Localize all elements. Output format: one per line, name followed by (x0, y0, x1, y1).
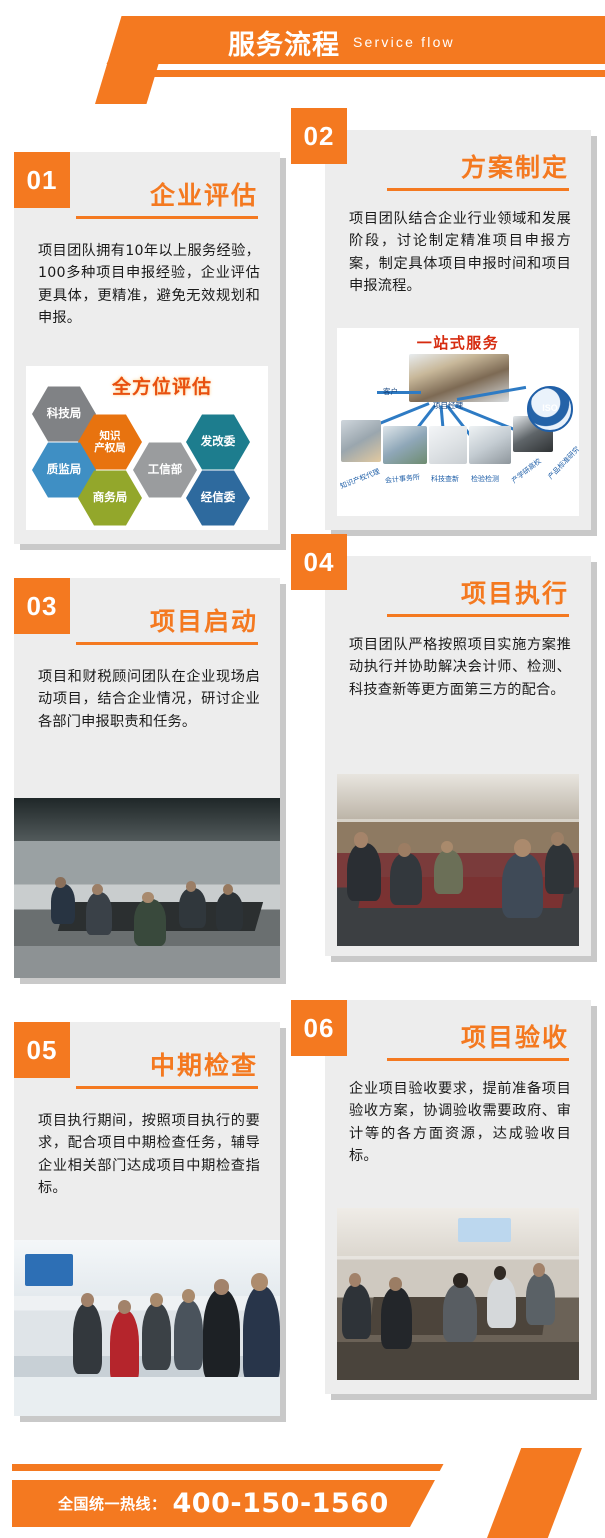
card-title-06: 项目验收 (461, 1018, 569, 1054)
card-description-01: 项目团队拥有10年以上服务经验，100多种项目申报经验，企业评估更具体，更精准，… (38, 240, 260, 330)
service-thumb-1 (341, 420, 381, 462)
footer-hotline-group: 全国统一热线： 400-150-1560 (58, 1480, 389, 1527)
card-title-01: 企业评估 (150, 176, 258, 212)
card-title-rule-02 (387, 188, 569, 191)
photo-workshop (337, 774, 579, 946)
step-card-02[interactable]: 方案制定 项目团队结合企业行业领域和发展阶段，讨论制定精准项目申报方案，制定具体… (325, 130, 591, 530)
hotline-label: 全国统一热线： (58, 1493, 167, 1514)
service-label-1: 知识产权代理 (339, 466, 382, 491)
card-description-06: 企业项目验收要求，提前准备项目验收方案，协调验收需要政府、审计等的各方面资源，达… (349, 1078, 571, 1168)
step-card-04[interactable]: 项目执行 项目团队严格按照项目实施方案推动执行并协助解决会计师、检测、科技查新等… (325, 556, 591, 956)
one-stop-service-diagram: 一站式服务 客户 项目经理 ISO 知识产权代理 会计事务所 科技查新 检验检测… (337, 328, 579, 516)
iso-seal-icon: ISO (527, 386, 573, 432)
card-title-rule-01 (76, 216, 258, 219)
photo-site-visit (14, 1240, 280, 1416)
photo-acceptance-meeting (337, 1208, 579, 1380)
card-title-02: 方案制定 (461, 148, 569, 184)
service-diagram-title: 一站式服务 (337, 332, 579, 353)
page-title: 服务流程 (228, 23, 340, 62)
header-title-group: 服务流程 Service flow (228, 22, 455, 62)
service-thumb-3 (429, 426, 467, 464)
step-card-06[interactable]: 项目验收 企业项目验收要求，提前准备项目验收方案，协调验收需要政府、审计等的各方… (325, 1000, 591, 1394)
step-badge-06: 06 (291, 1000, 347, 1056)
card-title-03: 项目启动 (150, 602, 258, 638)
page-subtitle: Service flow (353, 34, 455, 50)
card-title-rule-05 (76, 1086, 258, 1089)
service-thumb-2 (383, 426, 427, 464)
step-badge-05: 05 (14, 1022, 70, 1078)
service-label-2: 会计事务所 (385, 472, 421, 486)
hex-node-fagaiwei: 发改委 (186, 414, 250, 470)
page-header: 服务流程 Service flow (0, 0, 605, 100)
page-footer: 全国统一热线： 400-150-1560 (0, 1420, 605, 1538)
service-node-manager: 项目经理 (433, 400, 463, 411)
hex-diagram-title: 全方位评估 (112, 372, 212, 399)
hotline-number[interactable]: 400-150-1560 (173, 1488, 389, 1519)
step-badge-03: 03 (14, 578, 70, 634)
card-description-05: 项目执行期间，按照项目执行的要求，配合项目中期检查任务，辅导企业相关部门达成项目… (38, 1110, 260, 1200)
service-label-4: 检验检测 (471, 474, 499, 484)
service-center-photo (409, 354, 509, 402)
header-underline (172, 70, 605, 77)
service-thumb-4 (469, 426, 511, 464)
card-description-02: 项目团队结合企业行业领域和发展阶段，讨论制定精准项目申报方案，制定具体项目申报时… (349, 208, 571, 298)
hex-assessment-diagram: 全方位评估 科技局 知识 产权局 发改委 质监局 工信部 经信委 商务局 (26, 366, 268, 530)
card-description-03: 项目和财税顾问团队在企业现场启动项目，结合企业情况，研讨企业各部门申报职责和任务… (38, 666, 260, 733)
step-badge-04: 04 (291, 534, 347, 590)
service-label-3: 科技查新 (431, 474, 459, 484)
step-card-03[interactable]: 项目启动 项目和财税顾问团队在企业现场启动项目，结合企业情况，研讨企业各部门申报… (14, 578, 280, 978)
step-badge-01: 01 (14, 152, 70, 208)
hex-node-gongxinbu: 工信部 (133, 442, 197, 498)
card-title-rule-06 (387, 1058, 569, 1061)
card-title-rule-04 (387, 614, 569, 617)
card-title-rule-03 (76, 642, 258, 645)
hex-node-jingxinwei: 经信委 (186, 470, 250, 526)
card-description-04: 项目团队严格按照项目实施方案推动执行并协助解决会计师、检测、科技查新等更方面第三… (349, 634, 571, 701)
card-title-05: 中期检查 (150, 1046, 258, 1082)
step-card-01[interactable]: 企业评估 项目团队拥有10年以上服务经验，100多种项目申报经验，企业评估更具体… (14, 152, 280, 544)
step-card-05[interactable]: 中期检查 项目执行期间，按照项目执行的要求，配合项目中期检查任务，辅导企业相关部… (14, 1022, 280, 1416)
card-title-04: 项目执行 (461, 574, 569, 610)
photo-meeting-room (14, 798, 280, 978)
step-badge-02: 02 (291, 108, 347, 164)
service-node-customer: 客户 (383, 386, 398, 397)
service-label-5: 产学研高校 (510, 456, 544, 485)
